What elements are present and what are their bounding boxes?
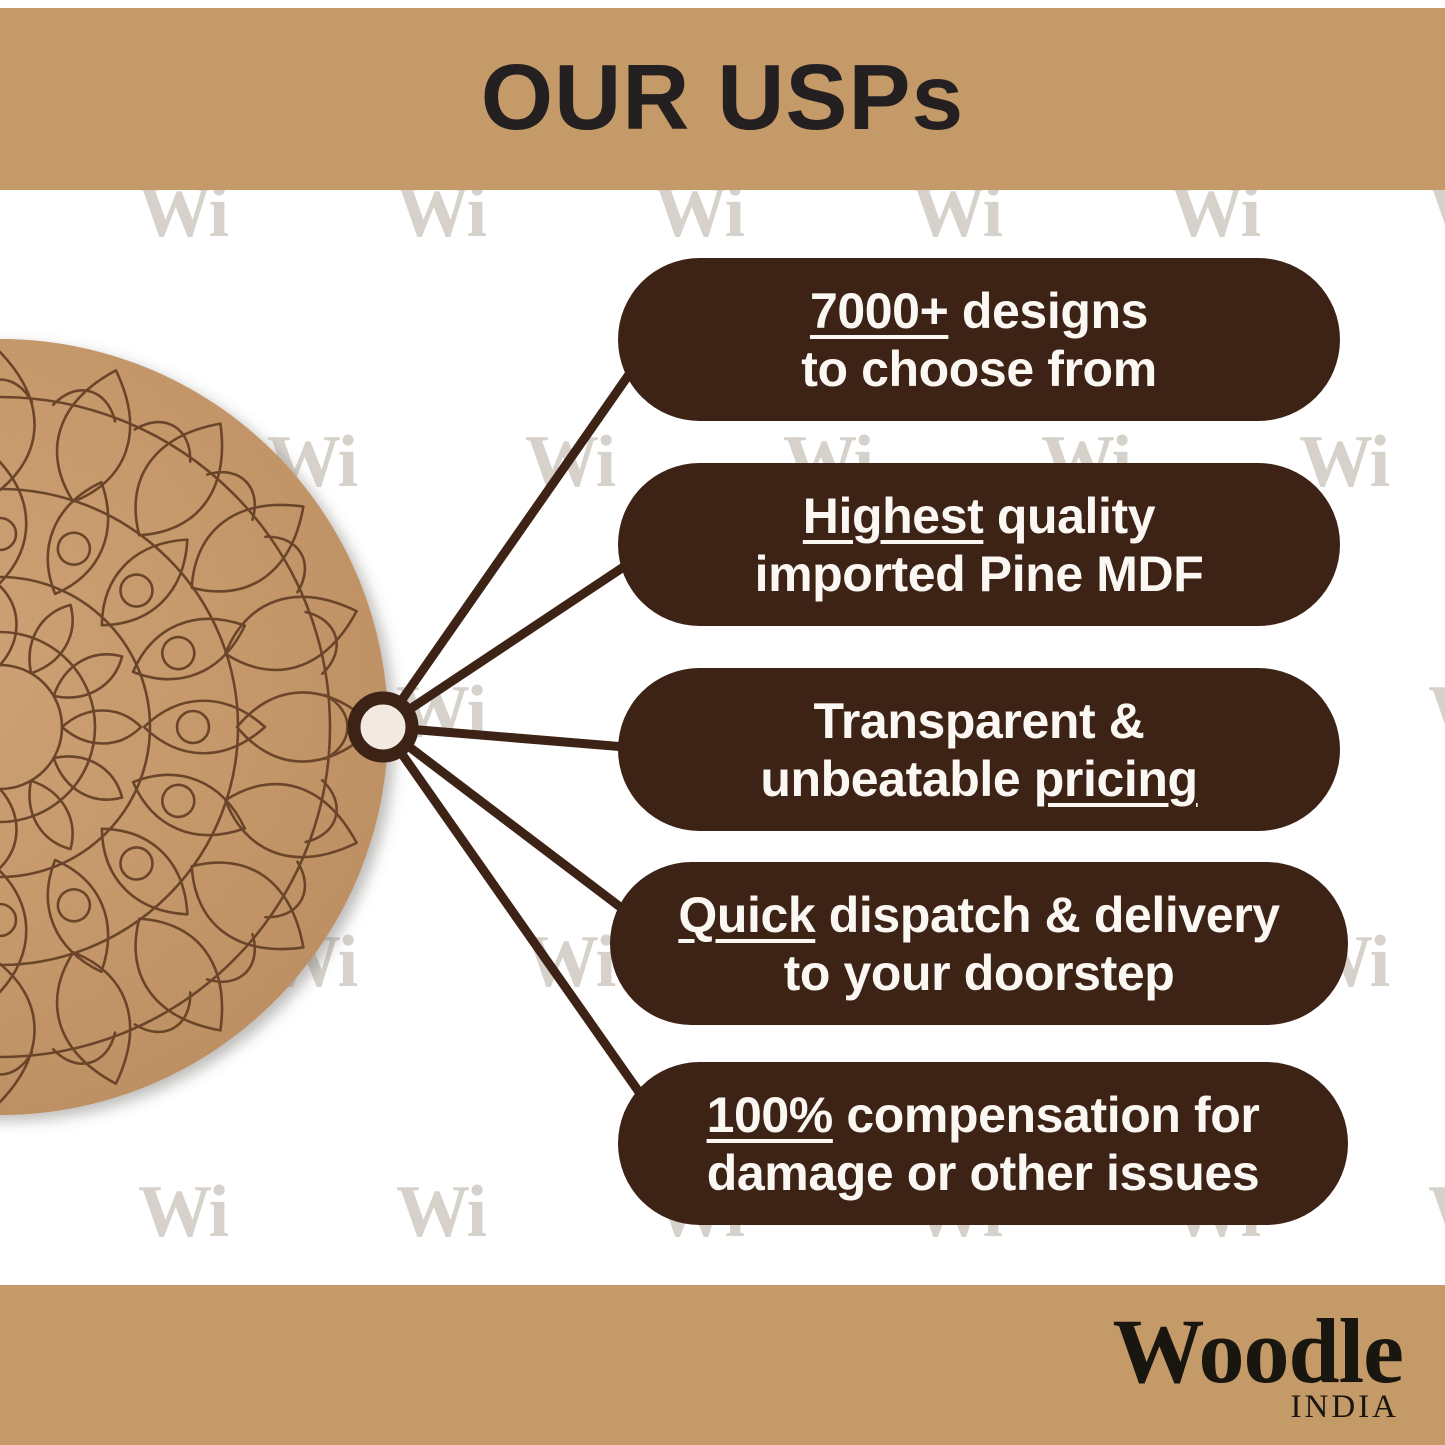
usp-pill-quality[interactable]: Highest quality imported Pine MDF (618, 463, 1340, 626)
usp-highlight: Highest (803, 488, 984, 544)
watermark-wi: Wi (1428, 1175, 1445, 1249)
usp-highlight: 100% (707, 1087, 833, 1143)
usp-rest: designs (948, 283, 1148, 339)
usp-line-1: Highest quality (755, 487, 1204, 545)
usp-line-2: to choose from (801, 340, 1157, 398)
page-title: OUR USPs (481, 44, 964, 155)
usp-pill-compensation[interactable]: 100% compensation for damage or other is… (618, 1062, 1348, 1225)
usp-pill-pricing[interactable]: Transparent & unbeatable pricing (618, 668, 1340, 831)
usp-rest: unbeatable (760, 751, 1033, 807)
usp-line-2: imported Pine MDF (755, 545, 1204, 603)
usp-text-dispatch: Quick dispatch & delivery to your doorst… (678, 886, 1279, 1002)
watermark-wi: Wi (525, 925, 614, 999)
usp-rest: dispatch & delivery (815, 887, 1279, 943)
mandala-disc-svg (0, 290, 470, 1190)
usp-highlight: Quick (678, 887, 815, 943)
usp-text-compensation: 100% compensation for damage or other is… (707, 1086, 1260, 1202)
infographic-canvas: WiWiWiWiWiWiWiWiWiWiWiWiWiWiWiWiWiWiWiWi… (0, 0, 1445, 1445)
usp-rest: quality (983, 488, 1155, 544)
brand-logo: Woodle INDIA (1113, 1305, 1403, 1424)
usp-highlight: pricing (1034, 751, 1198, 807)
usp-line-2: unbeatable pricing (760, 750, 1197, 808)
watermark-wi: Wi (525, 425, 614, 499)
product-image-mdf-disc (0, 290, 470, 1190)
usp-pill-designs[interactable]: 7000+ designs to choose from (618, 258, 1340, 421)
watermark-wi: Wi (1428, 675, 1445, 749)
usp-line-1: 7000+ designs (801, 282, 1157, 340)
usp-highlight: 7000+ (810, 283, 948, 339)
usp-line-1: Quick dispatch & delivery (678, 886, 1279, 944)
usp-rest: compensation for (833, 1087, 1260, 1143)
usp-pill-dispatch[interactable]: Quick dispatch & delivery to your doorst… (610, 862, 1348, 1025)
usp-line-1: 100% compensation for (707, 1086, 1260, 1144)
usp-text-designs: 7000+ designs to choose from (801, 282, 1157, 398)
usp-line-2: to your doorstep (678, 944, 1279, 1002)
brand-logo-wordmark: Woodle (1113, 1305, 1403, 1397)
header-band: OUR USPs (0, 8, 1445, 190)
usp-text-quality: Highest quality imported Pine MDF (755, 487, 1204, 603)
usp-line-2: damage or other issues (707, 1144, 1260, 1202)
usp-text-pricing: Transparent & unbeatable pricing (760, 692, 1197, 808)
usp-line-1: Transparent & (760, 692, 1197, 750)
